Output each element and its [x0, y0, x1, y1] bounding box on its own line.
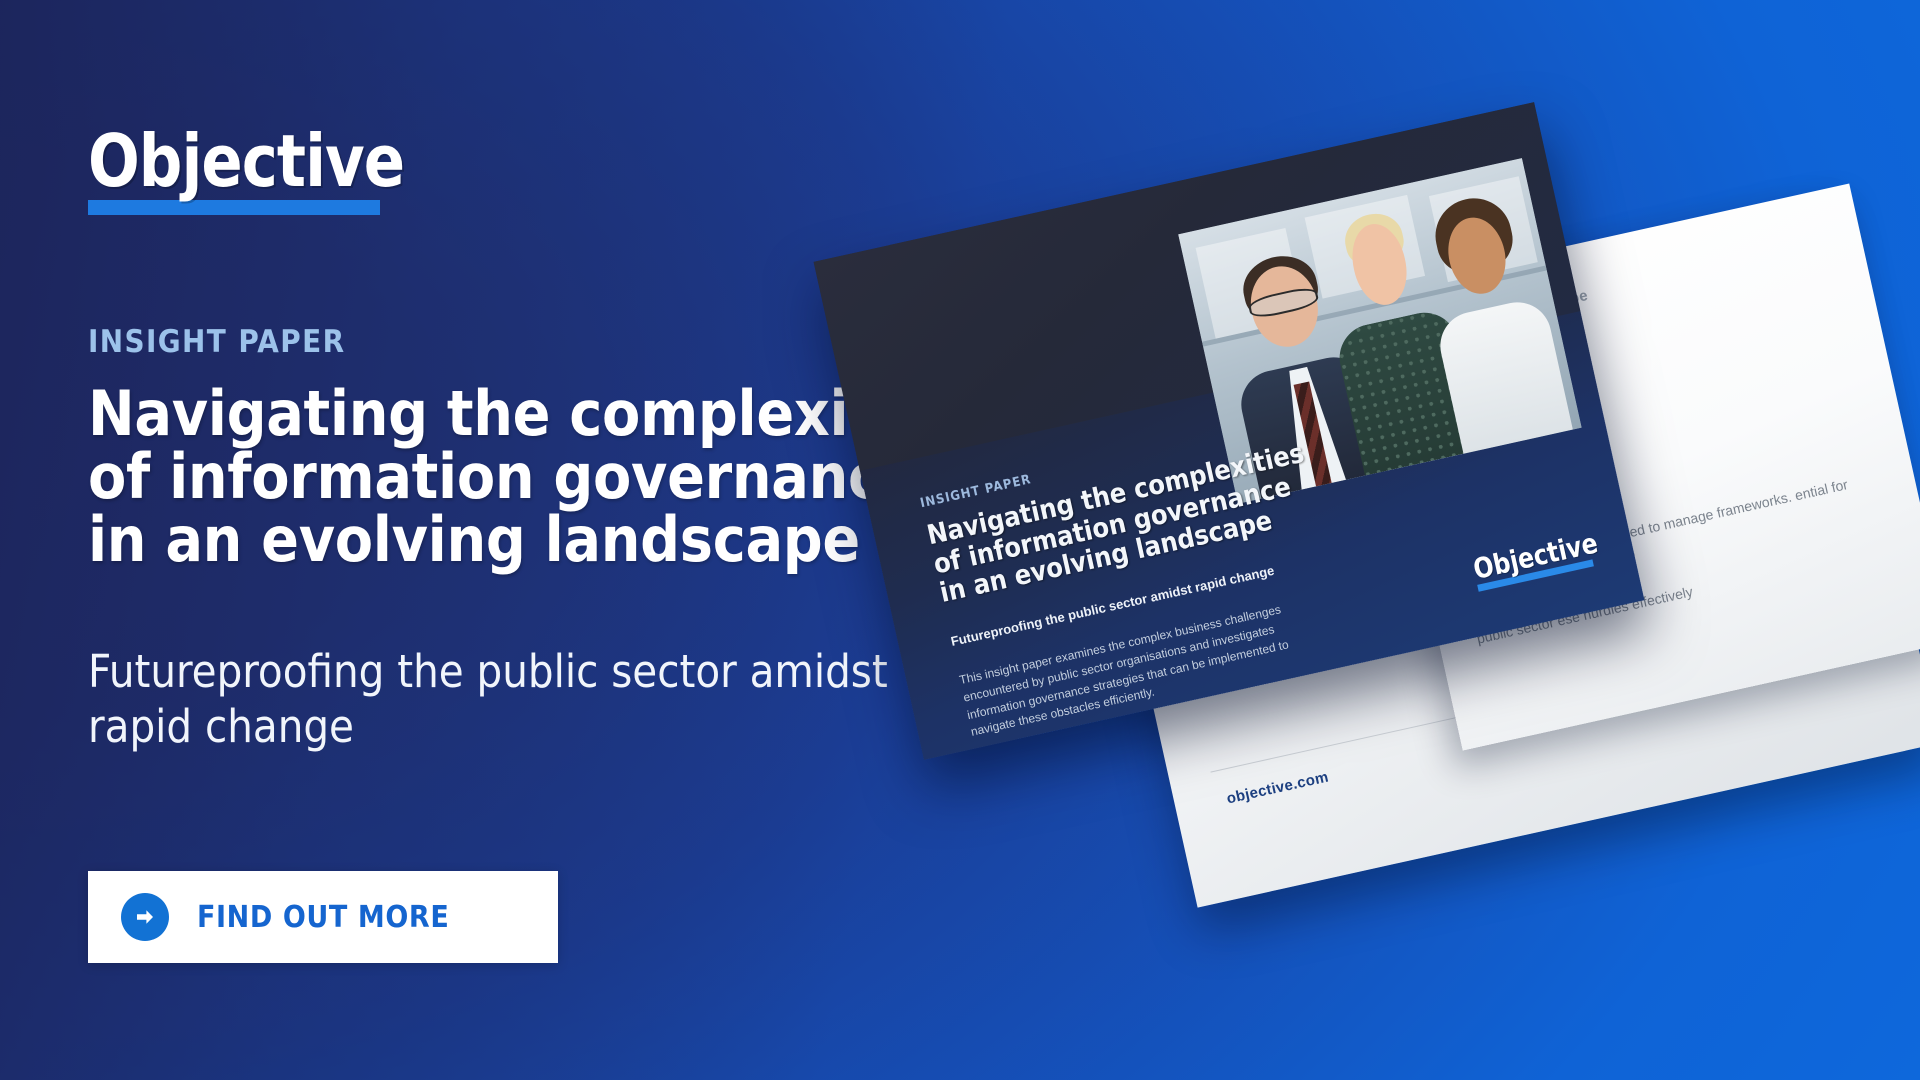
arrow-right-circle-icon	[121, 893, 169, 941]
hero-content: Objective INSIGHT PAPER Navigating the c…	[88, 0, 988, 1080]
headline-line-2: of information governance	[88, 445, 968, 508]
page-subtitle: Futureproofing the public sector amidst …	[88, 645, 968, 755]
website-url: objective.com	[1225, 768, 1330, 807]
document-mockup: objective.com in an evolving landscape f…	[860, 0, 1920, 1080]
subhead-line-2: rapid change	[88, 700, 968, 755]
logo-wordmark: Objective	[88, 130, 362, 193]
objective-logo[interactable]: Objective	[88, 130, 380, 215]
eyebrow-label: INSIGHT PAPER	[88, 324, 345, 360]
cta-label: FIND OUT MORE	[197, 900, 449, 935]
headline-line-3: in an evolving landscape	[88, 508, 968, 571]
page-title: Navigating the complexities of informati…	[88, 382, 968, 572]
cover-title: Navigating the complexities of informati…	[924, 431, 1353, 609]
subhead-line-1: Futureproofing the public sector amidst	[88, 645, 968, 700]
headline-line-1: Navigating the complexities	[88, 382, 968, 445]
cover-objective-logo: Objective	[1471, 532, 1594, 592]
find-out-more-button[interactable]: FIND OUT MORE	[88, 871, 558, 963]
